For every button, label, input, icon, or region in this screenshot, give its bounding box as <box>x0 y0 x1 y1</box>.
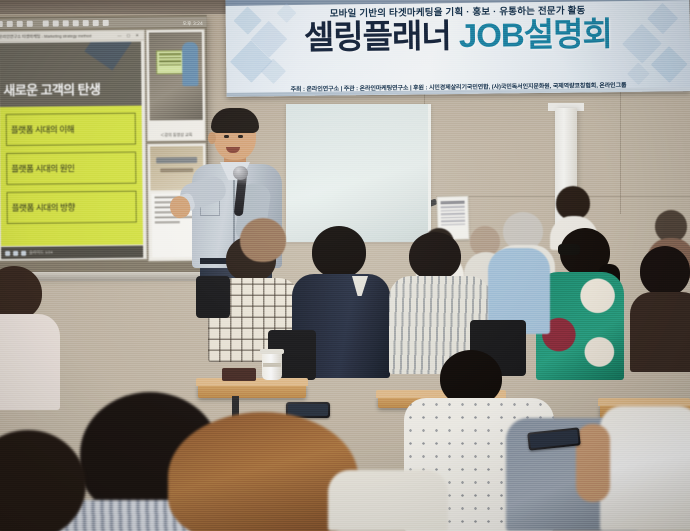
slide-bullets: 플랫폼 시대의 이해 플랫폼 시대의 원인 플랫폼 시대의 방향 <box>0 106 143 246</box>
thumbnail-monitor-icon <box>156 50 184 74</box>
taskbar-clock: 오후 3:24 <box>182 20 202 27</box>
wallet <box>222 368 256 381</box>
taskbar: 오후 3:24 <box>0 17 207 29</box>
slide-header: 새로운 고객의 탄생 <box>0 42 142 107</box>
window-controls[interactable]: — ▢ ✕ <box>117 33 143 38</box>
slide-decoration <box>84 42 131 71</box>
slide-canvas: 새로운 고객의 탄생 플랫폼 시대의 이해 플랫폼 시대의 원인 플랫폼 시대의… <box>0 42 143 246</box>
window-titlebar: 온라인연구소 타겟마케팅 - Marketing strategy method… <box>0 31 144 43</box>
desk <box>198 384 306 398</box>
coffee-cup-band <box>263 363 281 367</box>
presenter-eye-left <box>224 135 229 138</box>
slide-status-label: 슬라이드 1/24 <box>29 250 53 256</box>
presenter-eye-right <box>238 135 243 138</box>
desk-edge <box>598 398 690 406</box>
window-title: 온라인연구소 타겟마케팅 - Marketing strategy method <box>0 33 91 40</box>
slide-bullet-1: 플랫폼 시대의 이해 <box>6 113 136 146</box>
presentation-window: 온라인연구소 타겟마케팅 - Marketing strategy method… <box>0 30 147 262</box>
slide-bullet-3: 플랫폼 시대의 방향 <box>6 191 136 224</box>
forearm <box>576 424 610 502</box>
presenter-ear <box>208 132 216 144</box>
slide-title: 새로운 고객의 탄생 <box>3 79 100 99</box>
coffee-cup-lid <box>260 349 284 354</box>
microphone-head-icon <box>233 166 248 180</box>
sunglasses-icon <box>558 244 580 255</box>
presenter-hair <box>211 108 259 133</box>
seminar-photo: 모바일 기반의 타겟마케팅을 기획 · 홍보 · 유통하는 전문가 활동 셀링플… <box>0 0 690 531</box>
thumbnail-person <box>182 42 198 86</box>
slide-bullet-2: 플랫폼 시대의 원인 <box>6 152 136 185</box>
event-banner: 모바일 기반의 타겟마케팅을 기획 · 홍보 · 유통하는 전문가 활동 셀링플… <box>225 0 690 97</box>
banner-title-part1: 셀링플래너 <box>304 17 451 56</box>
banner-title: 셀링플래너 JOB설명회 <box>226 13 690 59</box>
slide-status-bar: 슬라이드 1/24 <box>1 246 143 259</box>
banner-title-part2: JOB설명회 <box>459 15 612 54</box>
whiteboard <box>286 104 431 242</box>
chair-back <box>196 276 230 318</box>
